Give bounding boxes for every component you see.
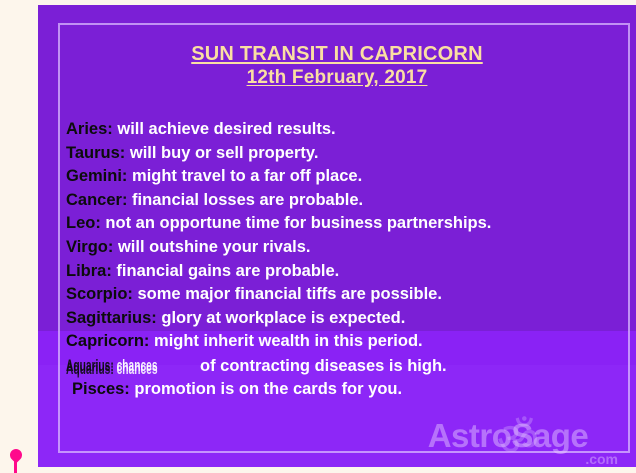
poster-canvas: SUN TRANSIT IN CAPRICORN 12th February, … [38,5,636,467]
zodiac-sign-label: Sagittarius: [66,309,157,327]
poster-screenshot: SUN TRANSIT IN CAPRICORN 12th February, … [0,0,636,473]
zodiac-sign-label: Virgo: [66,238,113,256]
zodiac-forecast-text: will buy or sell property. [125,144,318,162]
list-item: Scorpio: some major financial tiffs are … [52,283,636,307]
zodiac-sign-label: Taurus: [66,144,125,162]
zodiac-sign-label-ghost: Aquarius: [66,360,114,378]
zodiac-sign-label: Pisces: [72,380,130,398]
list-item: Sagittarius: glory at workplace is expec… [52,307,636,331]
zodiac-sign-label: Scorpio: [66,285,133,303]
zodiac-sign-label: Cancer: [66,191,127,209]
page-subtitle-date: 12th February, 2017 [247,67,428,89]
aquarius-forecast-tail: of contracting diseases is high. [200,355,447,379]
forecast-list: Aries: will achieve desired results. Tau… [52,118,636,401]
zodiac-forecast-text: not an opportune time for business partn… [101,214,492,232]
zodiac-forecast-text: might inherit wealth in this period. [149,332,422,350]
zodiac-forecast-text: financial gains are probable. [112,262,339,280]
list-item: Virgo: will outshine your rivals. [52,236,636,260]
zodiac-forecast-text: might travel to a far off place. [127,167,362,185]
zodiac-sign-label: Aries: [66,120,113,138]
zodiac-forecast-text: glory at workplace is expected. [157,309,406,327]
zodiac-forecast-text: financial losses are probable. [127,191,363,209]
poster-title-block: SUN TRANSIT IN CAPRICORN 12th February, … [38,43,636,89]
list-item: Cancer: financial losses are probable. [52,189,636,213]
zodiac-forecast-text: promotion is on the cards for you. [130,380,402,398]
list-item: Leo: not an opportune time for business … [52,212,636,236]
map-pin-icon [10,449,22,473]
aquarius-ghost-layer-bottom: Aquarius: chances [66,358,158,382]
zodiac-sign-label: Capricorn: [66,332,149,350]
list-item: Taurus: will buy or sell property. [52,142,636,166]
list-item-aquarius-glitched: Aquarius: chances Aquarius: chances of c… [52,354,636,378]
zodiac-forecast-text: will outshine your rivals. [113,238,310,256]
zodiac-sign-label: Libra: [66,262,112,280]
list-item: Libra: financial gains are probable. [52,260,636,284]
page-margin-top [0,0,636,5]
zodiac-forecast-text: will achieve desired results. [113,120,336,138]
zodiac-forecast-text: some major financial tiffs are possible. [133,285,442,303]
zodiac-sign-label: Gemini: [66,167,127,185]
list-item: Aries: will achieve desired results. [52,118,636,142]
page-title: SUN TRANSIT IN CAPRICORN [191,43,482,67]
list-item: Capricorn: might inherit wealth in this … [52,330,636,354]
zodiac-sign-label: Leo: [66,214,101,232]
page-margin-left [0,0,38,473]
zodiac-forecast-text-ghost: chances [114,360,158,378]
map-pin-stem [14,459,17,473]
list-item: Gemini: might travel to a far off place. [52,165,636,189]
